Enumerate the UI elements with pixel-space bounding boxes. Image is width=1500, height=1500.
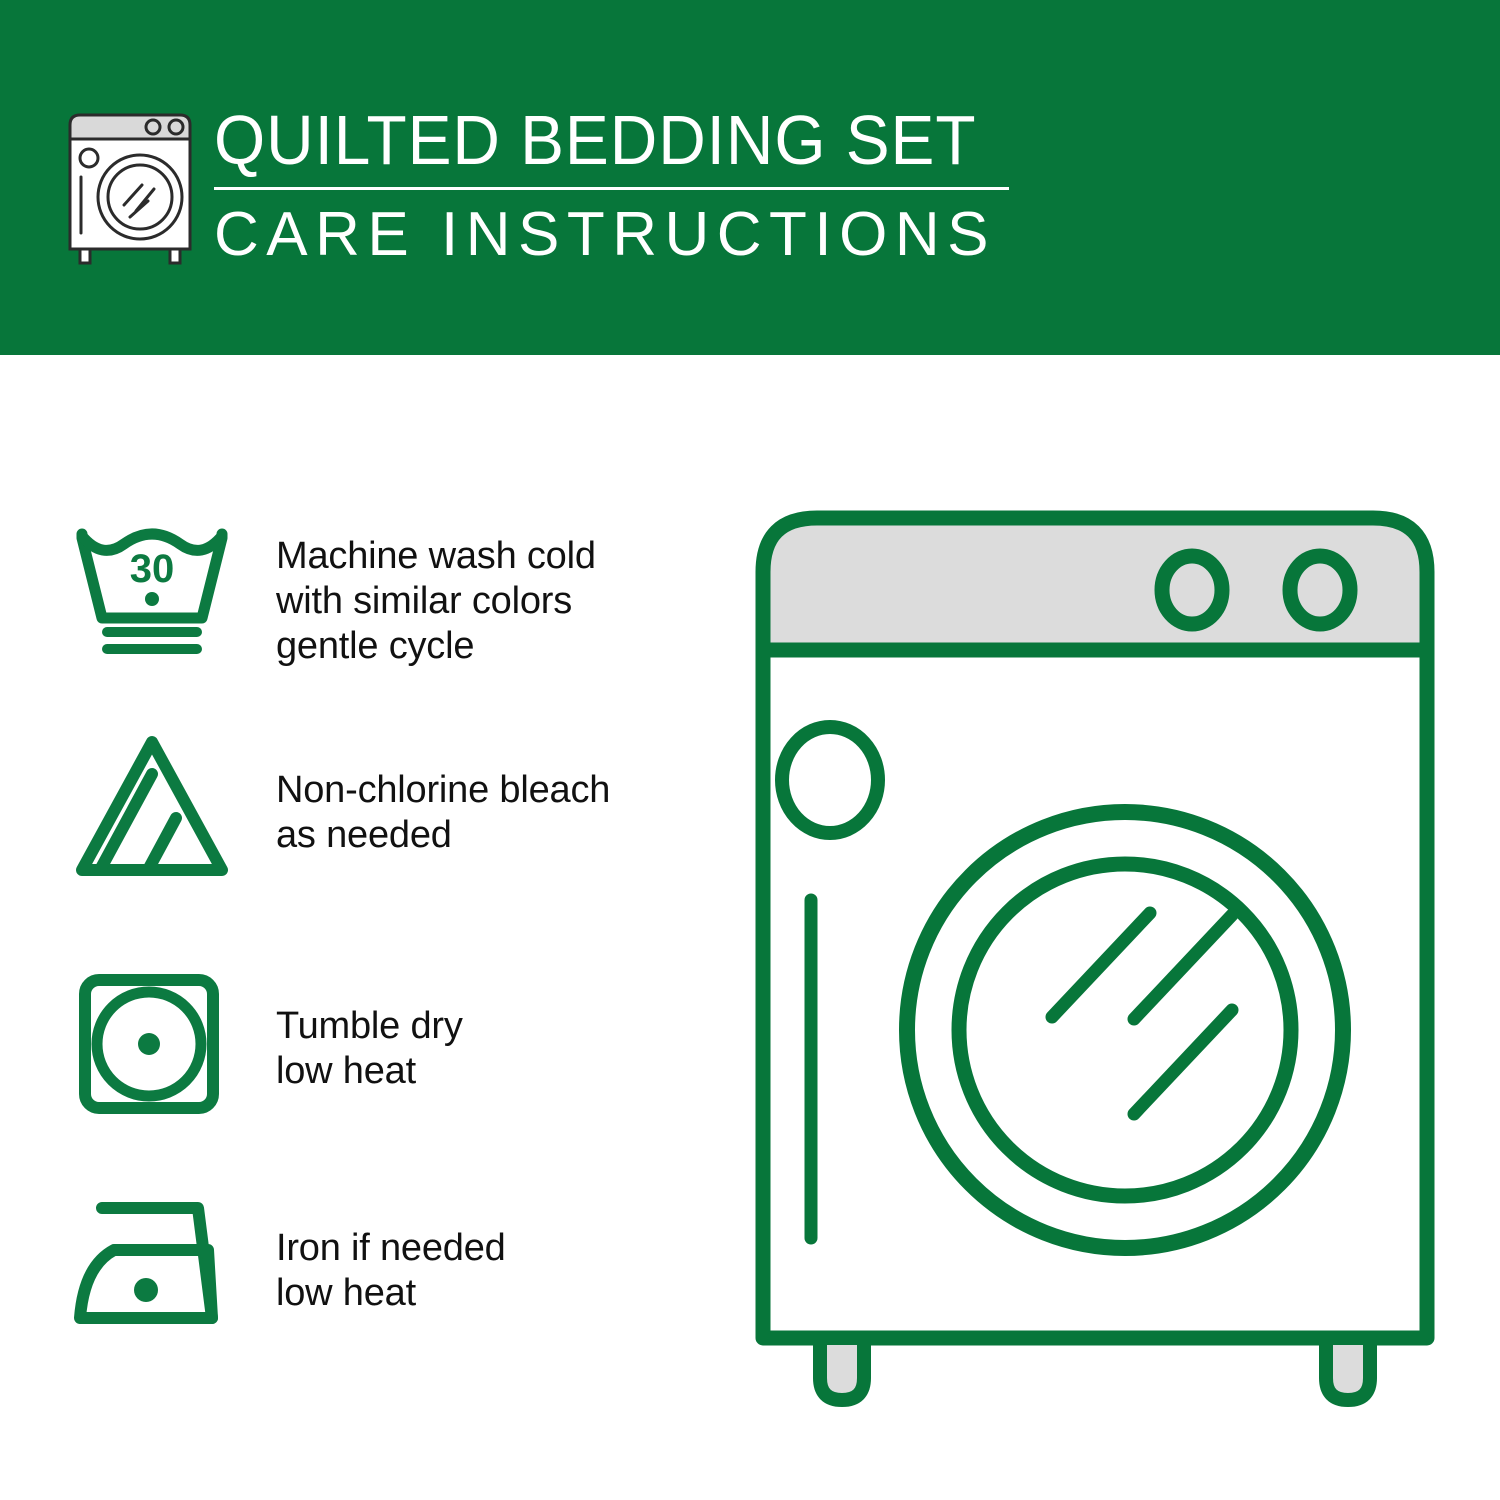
bleach-triangle-icon <box>72 730 232 880</box>
care-row-iron: Iron if needed low heat <box>72 1196 722 1331</box>
machine-foot-right <box>1326 1338 1370 1400</box>
front-load-washing-machine-illustration <box>745 500 1445 1410</box>
header-band: QUILTED BEDDING SET CARE INSTRUCTIONS <box>0 0 1500 355</box>
washing-machine-icon <box>60 105 200 270</box>
control-knob-1 <box>1162 556 1222 624</box>
care-label-machine-wash: Machine wash cold with similar colors ge… <box>276 534 596 669</box>
machine-foot-left <box>820 1338 864 1400</box>
care-label-tumble-dry: Tumble dry low heat <box>276 1004 463 1094</box>
care-row-bleach: Non-chlorine bleach as needed <box>72 730 722 880</box>
page-subtitle: CARE INSTRUCTIONS <box>214 202 1014 268</box>
detergent-dispenser-icon <box>782 727 878 833</box>
tumble-dry-icon <box>72 972 232 1117</box>
care-row-machine-wash: 30 Machine wash cold with similar colors… <box>72 522 722 669</box>
control-knob-2 <box>1290 556 1350 624</box>
care-label-bleach: Non-chlorine bleach as needed <box>276 768 610 858</box>
care-row-tumble-dry: Tumble dry low heat <box>72 972 722 1117</box>
wash-tub-30-icon: 30 <box>72 522 232 657</box>
care-label-iron: Iron if needed low heat <box>276 1226 506 1316</box>
page-title: QUILTED BEDDING SET <box>214 103 966 177</box>
wash-temperature-value: 30 <box>130 547 175 591</box>
header-text-block: QUILTED BEDDING SET CARE INSTRUCTIONS <box>214 103 1014 268</box>
care-instructions-page: QUILTED BEDDING SET CARE INSTRUCTIONS 30… <box>0 0 1500 1500</box>
door-inner-ring <box>959 864 1291 1196</box>
iron-icon <box>72 1196 232 1331</box>
title-divider <box>214 187 1009 190</box>
